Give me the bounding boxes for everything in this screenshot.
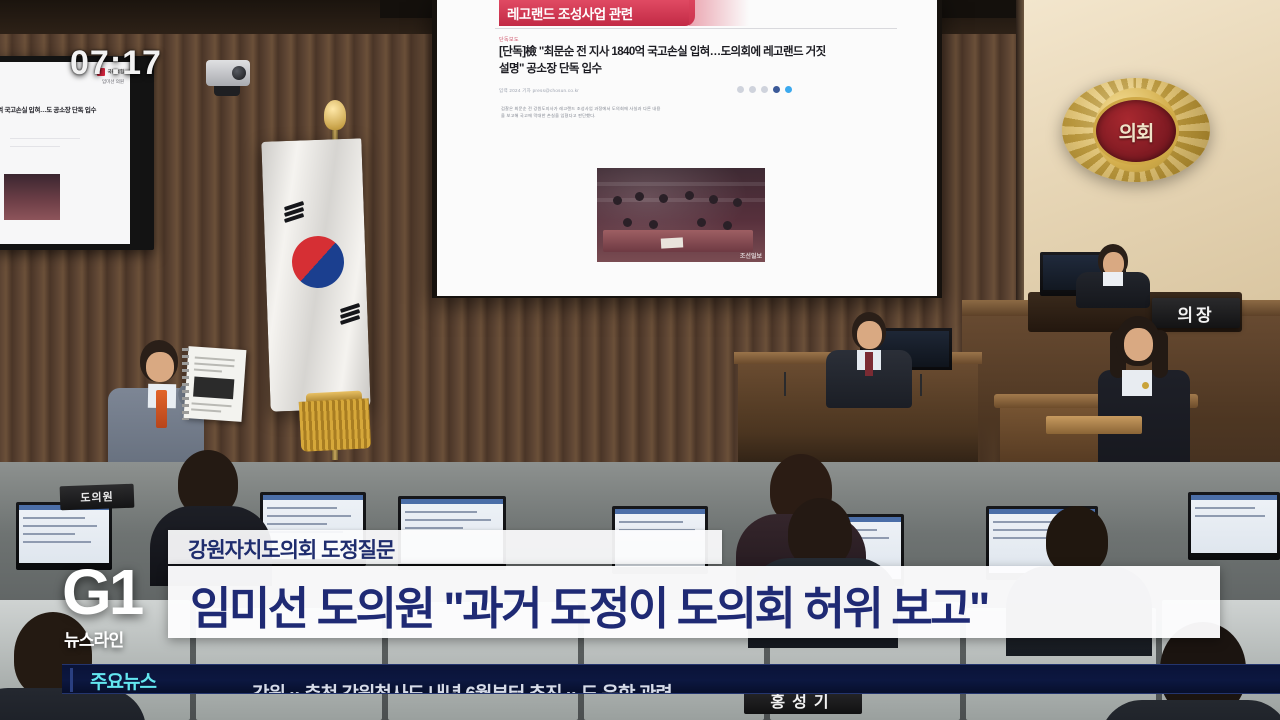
mail-icon	[761, 86, 768, 93]
facebook-icon	[773, 86, 780, 93]
twitter-icon	[785, 86, 792, 93]
side-monitor-screen: 국민의힘 임미선 의원 1840억 국고손실 입혀…도 공소장 단독 입수	[0, 62, 130, 244]
photo-watermark: 조선일보	[740, 251, 762, 260]
slide-divider	[495, 28, 897, 29]
news-ticker: 주요뉴스 강원 ·· 춘천 강원청사도 내년 6월부터 추진 ·· 도 운항 관…	[62, 664, 1280, 694]
slide-tab: 레고랜드 조성사업 관련	[499, 0, 695, 26]
member-desk-nameplate-text: 도의원	[80, 488, 114, 505]
article-byline: 입력 2024 기자 press@chosun.co.kr	[499, 88, 579, 94]
monitor-headline: 1840억 국고손실 입혀…도 공소장 단독 입수	[0, 106, 130, 116]
lapel-badge-icon	[1142, 382, 1149, 389]
share-icon	[737, 86, 744, 93]
emblem-text: 의회	[1119, 117, 1154, 146]
channel-logo-block: G1 뉴스라인	[62, 560, 166, 656]
broadcast-clock: 07:17	[70, 44, 162, 83]
ticker-text: 강원 ·· 춘천 강원청사도 내년 6월부터 추진 ·· 도 운항 관련	[252, 679, 672, 694]
chairman-nameplate-text: 의장	[1177, 301, 1214, 326]
lower-third-kicker: 강원자치도의회 도정질문	[188, 534, 394, 564]
print-icon	[749, 86, 756, 93]
broadcast-frame: 레고랜드 조성사업 관련 단독보도 [단독]檢 "최문순 전 지사 1840억 …	[0, 0, 1280, 720]
projector-screen: 레고랜드 조성사업 관련 단독보도 [단독]檢 "최문순 전 지사 1840억 …	[437, 0, 937, 296]
program-name: 뉴스라인	[64, 626, 123, 651]
slide-tab-label: 레고랜드 조성사업 관련	[507, 3, 633, 23]
article-share-icons	[737, 86, 792, 93]
camera-base	[214, 86, 240, 96]
ticker-label: 주요뉴스	[90, 667, 156, 694]
wall-edge-trim	[1016, 0, 1024, 330]
ticker-divider	[70, 668, 73, 692]
lectern-control-panel	[1046, 416, 1142, 434]
article-photo: 조선일보	[597, 168, 765, 262]
lower-third-headline-bar: 임미선 도의원 "과거 도정이 도의회 허위 보고"	[168, 566, 1220, 638]
chairman-nameplate: 의장	[1152, 298, 1240, 328]
lower-third-kicker-bar: 강원자치도의회 도정질문	[168, 530, 722, 564]
article-headline: [단독]檢 "최문순 전 지사 1840억 국고손실 입혀…도의회에 레고랜드 …	[499, 44, 829, 77]
flag-fringe	[299, 398, 372, 452]
monitor-photo	[4, 174, 60, 220]
channel-logo: G1	[62, 560, 141, 624]
camera-lens-icon	[232, 66, 246, 80]
flag-finial	[324, 100, 346, 130]
member-desk-nameplate: 도의원	[60, 484, 135, 511]
article-kicker: 단독보도	[499, 36, 519, 43]
lower-third-headline: 임미선 도의원 "과거 도정이 도의회 허위 보고"	[190, 572, 988, 637]
slide-tab-fade	[689, 0, 749, 26]
held-document	[184, 346, 247, 422]
document-spiral-binding	[182, 348, 189, 420]
emblem-center: 의회	[1096, 100, 1176, 162]
article-body: 검찰은 최문순 전 강원도지사가 레고랜드 조성사업 과정에서 도의회에 사실과…	[501, 106, 661, 119]
